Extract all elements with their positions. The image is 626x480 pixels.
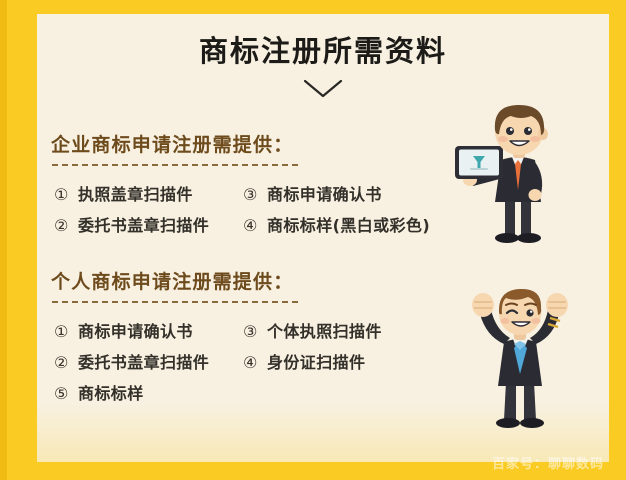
title-block: 商标注册所需资料 xyxy=(37,36,609,100)
list-item-number: ① xyxy=(54,322,78,341)
list-item-number: ② xyxy=(54,216,78,235)
page-title: 商标注册所需资料 xyxy=(37,36,609,68)
list-item-label: 商标申请确认书 xyxy=(78,318,193,342)
list-item-number: ③ xyxy=(243,322,267,341)
list-item: ③ 商标申请确认书 xyxy=(243,181,382,205)
list-item-label: 身份证扫描件 xyxy=(267,349,365,373)
section-company-requirements: 企业商标申请注册需提供： ① 执照盖章扫描件 ③ 商标申请确认书 ② xyxy=(51,130,471,243)
frame-bar-right xyxy=(609,0,626,480)
list-item-number: ③ xyxy=(243,185,267,204)
list-row: ⑤ 商标标样 xyxy=(51,380,471,411)
list-item-label: 商标申请确认书 xyxy=(267,181,382,205)
list-item: ⑤ 商标标样 xyxy=(54,380,144,404)
list-item-number: ⑤ xyxy=(54,384,78,403)
poster-root: 商标注册所需资料 企业商标申请注册需提供： ① 执照盖章扫描件 ③ xyxy=(0,0,626,480)
list-row: ② 委托书盖章扫描件 ④ 身份证扫描件 xyxy=(51,349,471,380)
list-row: ① 执照盖章扫描件 ③ 商标申请确认书 xyxy=(51,181,471,212)
watermark: 百家号：聊聊数码 xyxy=(492,453,604,472)
list-item-label: 委托书盖章扫描件 xyxy=(78,349,209,373)
businessman-celebrating-illustration xyxy=(458,278,584,443)
chevron-down-icon xyxy=(37,78,609,100)
list-row: ① 商标申请确认书 ③ 个体执照扫描件 xyxy=(51,318,471,349)
list-item-number: ④ xyxy=(243,216,267,235)
requirement-list: ① 商标申请确认书 ③ 个体执照扫描件 ② 委托书盖章扫描件 ④ xyxy=(51,318,471,411)
list-item-label: 委托书盖章扫描件 xyxy=(78,212,209,236)
businessman-with-tablet-illustration xyxy=(455,102,585,257)
list-item: ④ 身份证扫描件 xyxy=(243,349,365,373)
list-item-label: 商标标样 xyxy=(78,380,144,404)
heading-divider xyxy=(52,301,298,303)
heading-divider xyxy=(52,164,298,166)
list-item: ③ 个体执照扫描件 xyxy=(243,318,382,342)
list-item: ② 委托书盖章扫描件 xyxy=(54,349,209,373)
list-item: ② 委托书盖章扫描件 xyxy=(54,212,209,236)
requirement-list: ① 执照盖章扫描件 ③ 商标申请确认书 ② 委托书盖章扫描件 ④ xyxy=(51,181,471,243)
list-item-label: 个体执照扫描件 xyxy=(267,318,382,342)
list-item-number: ② xyxy=(54,353,78,372)
section-individual-requirements: 个人商标申请注册需提供： ① 商标申请确认书 ③ 个体执照扫描件 ② xyxy=(51,267,471,411)
list-item-number: ④ xyxy=(243,353,267,372)
frame-bar-top xyxy=(0,0,626,14)
list-item: ① 执照盖章扫描件 xyxy=(54,181,193,205)
list-row: ② 委托书盖章扫描件 ④ 商标标样(黑白或彩色) xyxy=(51,212,471,243)
section-heading: 个人商标申请注册需提供： xyxy=(51,267,293,301)
list-item-label: 执照盖章扫描件 xyxy=(78,181,193,205)
section-heading: 企业商标申请注册需提供： xyxy=(51,130,293,164)
list-item: ④ 商标标样(黑白或彩色) xyxy=(243,212,430,236)
list-item-number: ① xyxy=(54,185,78,204)
frame-bar-left-shade xyxy=(0,0,7,480)
list-item: ① 商标申请确认书 xyxy=(54,318,193,342)
list-item-label: 商标标样(黑白或彩色) xyxy=(267,212,430,236)
